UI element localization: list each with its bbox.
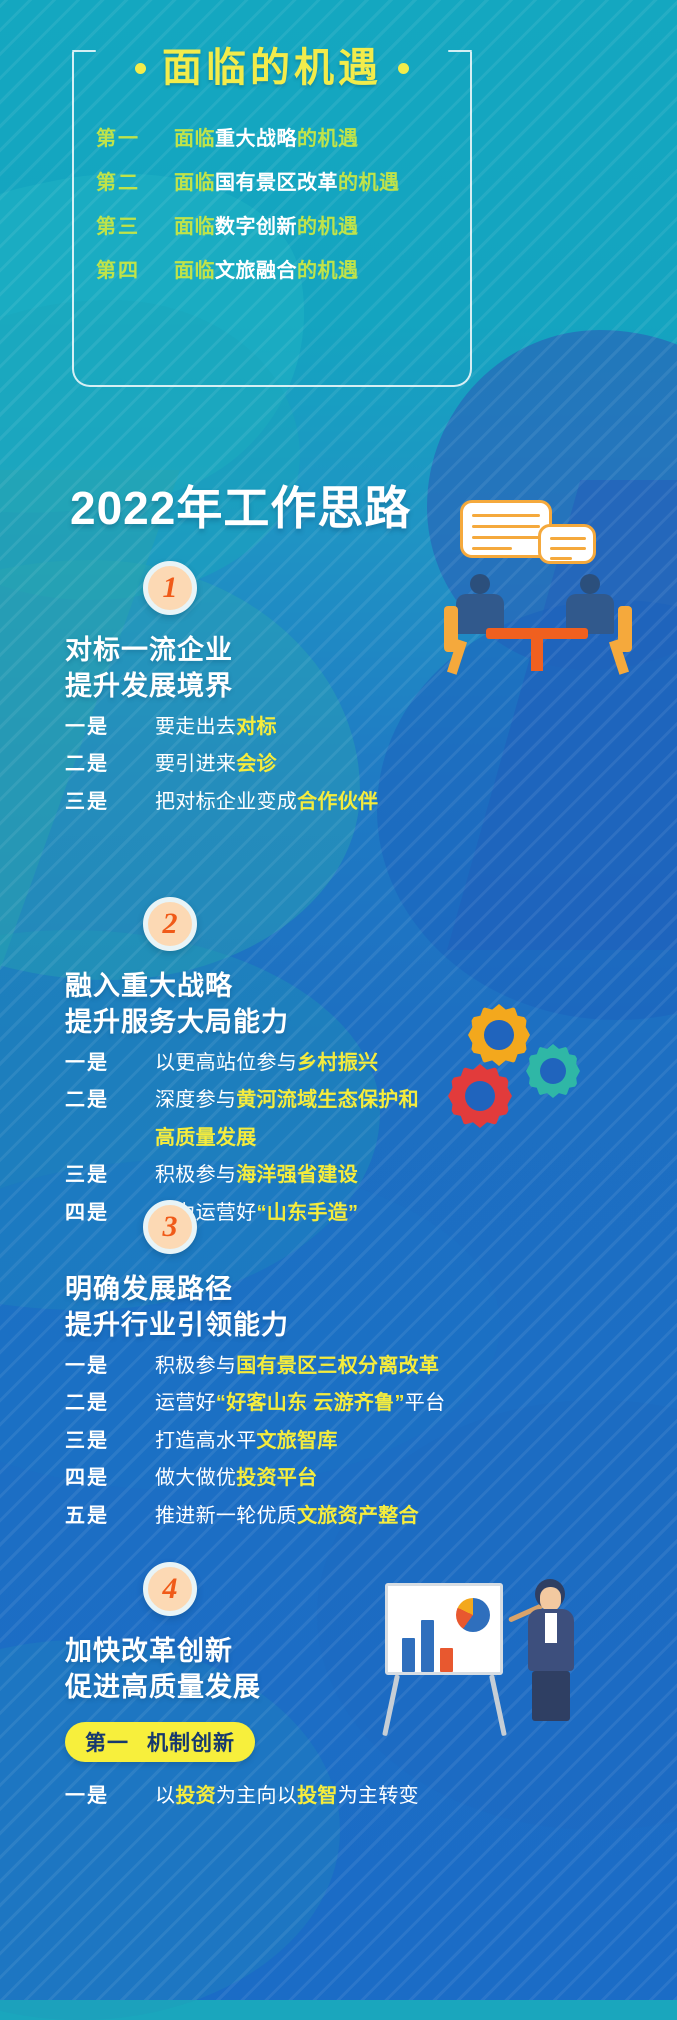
item-index: 四是	[65, 1199, 155, 1227]
item-text: 做大做优投资平台	[155, 1464, 317, 1492]
item-index: 第三	[96, 210, 174, 239]
presenter-shirt	[545, 1613, 557, 1643]
presenter-skirt	[532, 1671, 570, 1721]
item-index: 四是	[65, 1464, 155, 1492]
item-index: 三是	[65, 1161, 155, 1189]
item-text: 积极参与海洋强省建设	[155, 1161, 358, 1189]
easel-leg	[489, 1674, 507, 1736]
pie-chart-icon	[456, 1598, 490, 1632]
section-sublist-3: 一是 积极参与国有景区三权分离改革 二是 运营好“好客山东 云游齐鲁”平台 三是…	[65, 1352, 665, 1539]
opportunities-title: 面临的机遇	[162, 48, 382, 88]
item-text: 面临国有景区改革的机遇	[174, 166, 400, 195]
list-item: 三是 把对标企业变成合作伙伴	[65, 788, 665, 816]
mechanism-innovation-banner: 第一 机制创新	[65, 1722, 255, 1762]
table-leg	[531, 639, 543, 671]
section-title-3: 明确发展路径 提升行业引领能力	[65, 1272, 289, 1343]
item-text: 以更高站位参与乡村振兴	[155, 1049, 378, 1077]
item-text: 运营好“好客山东 云游齐鲁”平台	[155, 1389, 445, 1417]
item-text: 要走出去对标	[155, 713, 277, 741]
presenter-head	[540, 1587, 561, 1611]
presenter-illustration	[385, 1575, 615, 1755]
gears-illustration	[400, 1000, 600, 1160]
item-text: 推进新一轮优质文旅资产整合	[155, 1502, 419, 1530]
item-text: 面临文旅融合的机遇	[174, 254, 359, 283]
item-index: 二是	[65, 750, 155, 778]
chair-back	[444, 606, 458, 652]
item-index: 二是	[65, 1086, 155, 1114]
list-item: 第二 面临国有景区改革的机遇	[96, 166, 466, 210]
item-index: 一是	[65, 1782, 155, 1810]
item-text: 要引进来会诊	[155, 750, 277, 778]
item-index: 第一	[96, 122, 174, 151]
item-index: 三是	[65, 1427, 155, 1455]
section-title-1: 对标一流企业 提升发展境界	[65, 633, 233, 704]
list-item: 第三 面临数字创新的机遇	[96, 210, 466, 254]
section-badge-2: 2	[143, 897, 197, 951]
item-index: 三是	[65, 788, 155, 816]
item-text: 把对标企业变成合作伙伴	[155, 788, 378, 816]
banner-index: 第一	[85, 1727, 129, 1757]
chair-back	[618, 606, 632, 652]
list-item: 一是 以投资为主向以投智为主转变	[65, 1782, 665, 1810]
item-text: 积极参与国有景区三权分离改革	[155, 1352, 439, 1380]
section-sublist-4: 一是 以投资为主向以投智为主转变	[65, 1782, 665, 1819]
item-text: 面临重大战略的机遇	[174, 122, 359, 151]
easel-leg	[382, 1674, 400, 1736]
item-index: 第四	[96, 254, 174, 283]
list-item: 第四 面临文旅融合的机遇	[96, 254, 466, 298]
section-badge-3: 3	[143, 1200, 197, 1254]
section-badge-1: 1	[143, 561, 197, 615]
gear-icon	[448, 1064, 512, 1128]
list-item: 二是 要引进来会诊	[65, 750, 665, 778]
item-index: 五是	[65, 1502, 155, 1530]
dot-icon	[398, 63, 409, 74]
list-item: 二是 运营好“好客山东 云游齐鲁”平台	[65, 1389, 665, 1417]
item-index: 一是	[65, 713, 155, 741]
banner-label: 机制创新	[147, 1727, 235, 1757]
list-item: 一是 要走出去对标	[65, 713, 665, 741]
list-item: 四是 做大做优投资平台	[65, 1464, 665, 1492]
speech-bubble-icon	[538, 524, 596, 564]
chart-board-icon	[385, 1583, 503, 1675]
item-text: 面临数字创新的机遇	[174, 210, 359, 239]
meeting-illustration	[430, 500, 650, 700]
person-head-icon	[470, 574, 490, 594]
gear-icon	[468, 1004, 530, 1066]
dot-icon	[135, 63, 146, 74]
item-index: 一是	[65, 1049, 155, 1077]
list-item: 一是 积极参与国有景区三权分离改革	[65, 1352, 665, 1380]
gear-icon	[526, 1044, 580, 1098]
item-text: 以投资为主向以投智为主转变	[155, 1782, 419, 1810]
section-badge-4: 4	[143, 1562, 197, 1616]
section-title-2: 融入重大战略 提升服务大局能力	[65, 969, 289, 1040]
section-sublist-1: 一是 要走出去对标 二是 要引进来会诊 三是 把对标企业变成合作伙伴	[65, 713, 665, 825]
item-index: 第二	[96, 166, 174, 195]
item-text: 深度参与黄河流域生态保护和	[155, 1086, 419, 1114]
opportunities-list: 第一 面临重大战略的机遇 第二 面临国有景区改革的机遇 第三 面临数字创新的机遇…	[96, 122, 466, 298]
item-index: 二是	[65, 1389, 155, 1417]
list-item: 三是 积极参与海洋强省建设	[65, 1161, 665, 1189]
opportunities-title-row: 面临的机遇	[72, 40, 472, 96]
table-icon	[486, 628, 588, 639]
item-text: 打造高水平文旅智库	[155, 1427, 338, 1455]
list-item: 五是 推进新一轮优质文旅资产整合	[65, 1502, 665, 1530]
section-title-4: 加快改革创新 促进高质量发展	[65, 1634, 261, 1705]
list-item: 第一 面临重大战略的机遇	[96, 122, 466, 166]
person-head-icon	[580, 574, 600, 594]
item-index: 一是	[65, 1352, 155, 1380]
list-item: 三是 打造高水平文旅智库	[65, 1427, 665, 1455]
